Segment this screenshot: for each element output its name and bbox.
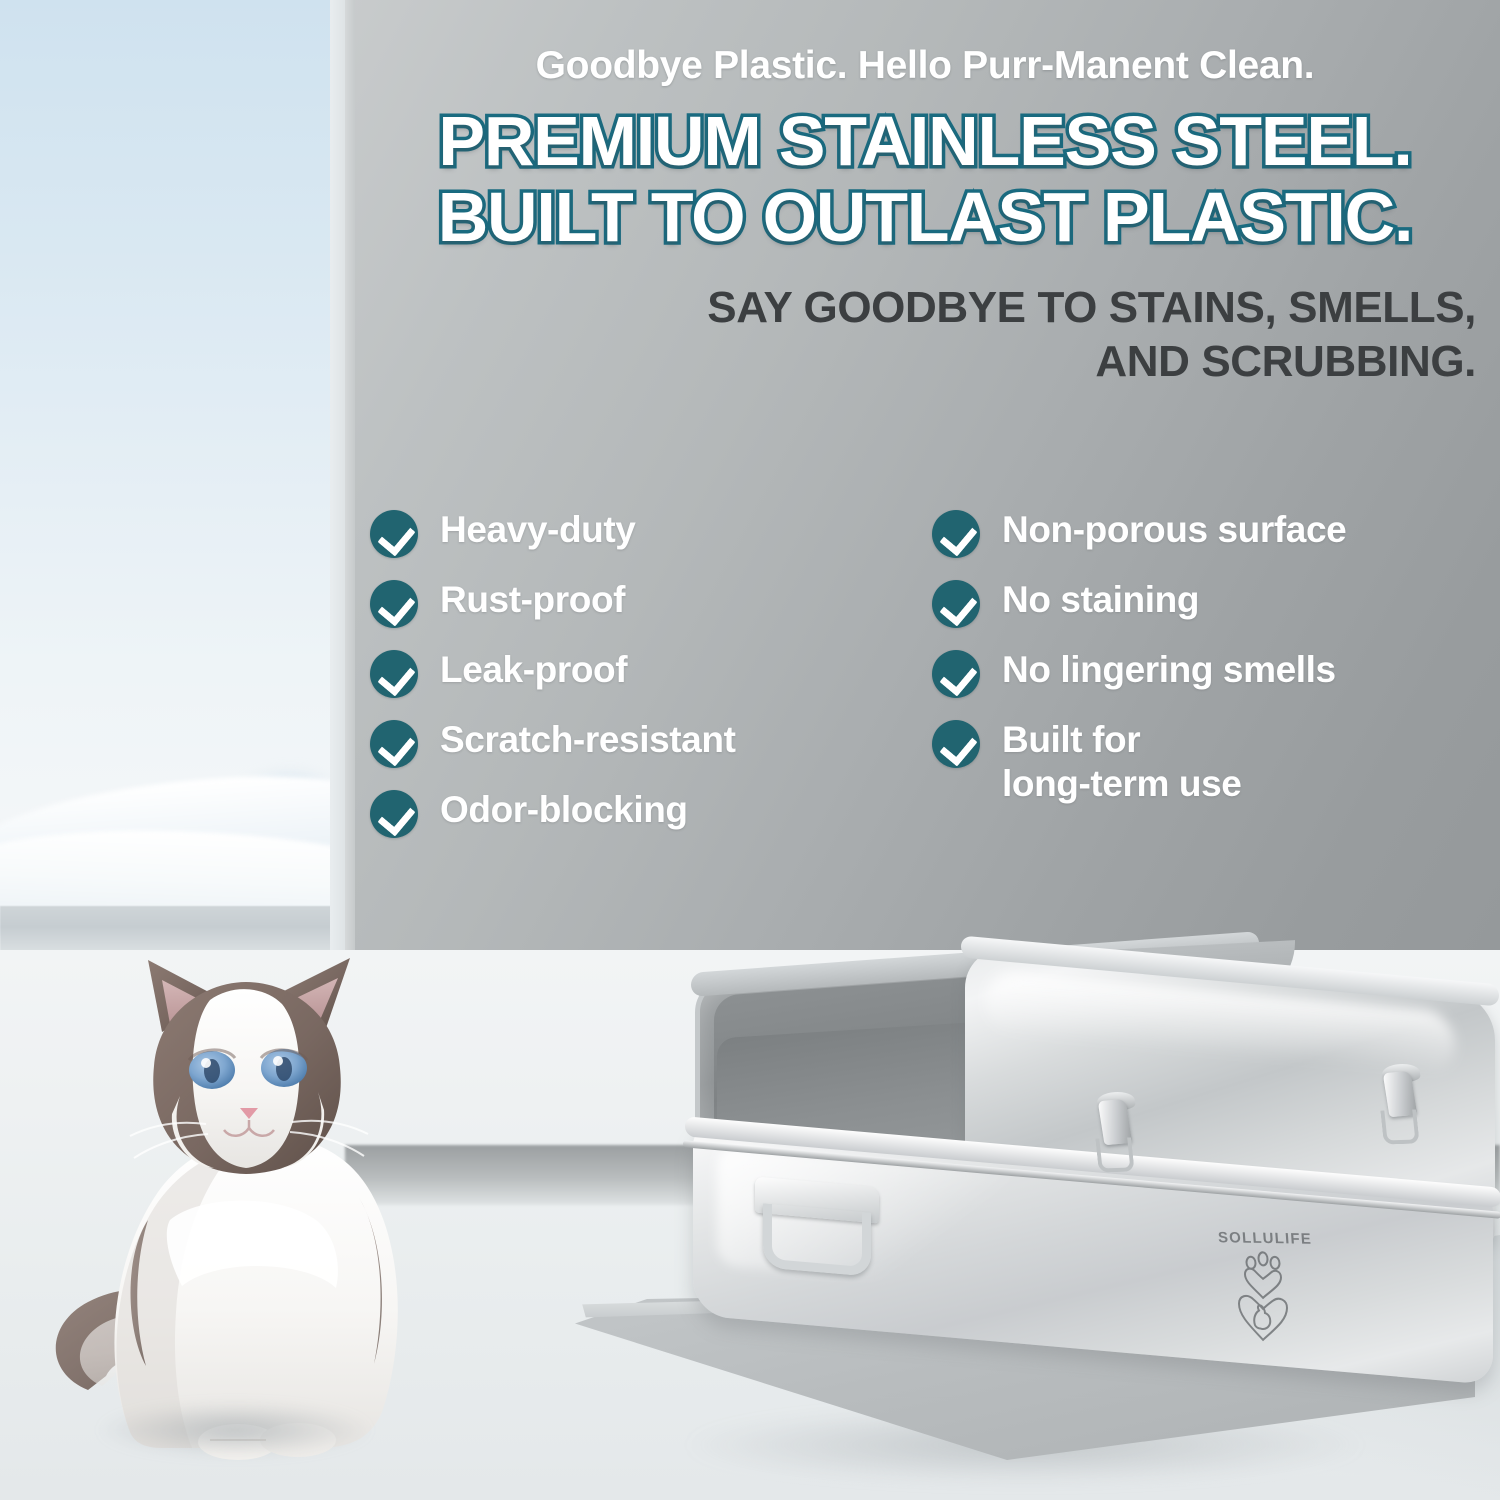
product-marketing-image: Goodbye Plastic. Hello Purr-Manent Clean… (0, 0, 1500, 1500)
brand-mark: SOLLULIFE (1185, 1223, 1345, 1347)
window-view (0, 0, 352, 952)
feature-item: Rust-proof (370, 578, 840, 628)
feature-item: Built for long-term use (932, 718, 1452, 805)
feature-label: Leak-proof (440, 648, 627, 692)
feature-label: No lingering smells (1002, 648, 1336, 692)
feature-column-left: Heavy-duty Rust-proof Leak-proof Scratch… (370, 508, 840, 858)
toggle-latch[interactable] (1095, 1099, 1135, 1178)
feature-column-right: Non-porous surface No staining No linger… (932, 508, 1452, 858)
feature-label: Scratch-resistant (440, 718, 736, 762)
feature-label: No staining (1002, 578, 1199, 622)
check-circle-icon (932, 650, 980, 698)
check-circle-icon (370, 580, 418, 628)
check-circle-icon (932, 580, 980, 628)
stainless-steel-litter-box: SOLLULIFE (665, 930, 1500, 1400)
subheadline-line-1: SAY GOODBYE TO STAINS, SMELLS, (370, 281, 1476, 335)
paw-print-heart-icon (1185, 1241, 1345, 1351)
cat-shadow (40, 1390, 430, 1470)
check-circle-icon (370, 650, 418, 698)
feature-label: Heavy-duty (440, 508, 635, 552)
check-circle-icon (370, 790, 418, 838)
toggle-latch[interactable] (1380, 1071, 1420, 1150)
latch-wire-bail (1095, 1137, 1134, 1172)
headline-line-2: BUILT TO OUTLAST PLASTIC. (370, 180, 1480, 256)
check-circle-icon (370, 510, 418, 558)
ragdoll-cat (30, 920, 440, 1480)
feature-label: Odor-blocking (440, 788, 688, 832)
feature-item: No lingering smells (932, 648, 1452, 698)
feature-label: Built for long-term use (1002, 718, 1241, 805)
feature-lists: Heavy-duty Rust-proof Leak-proof Scratch… (370, 508, 1480, 858)
eyebrow-text: Goodbye Plastic. Hello Purr-Manent Clean… (370, 44, 1480, 88)
feature-label: Rust-proof (440, 578, 625, 622)
check-circle-icon (370, 720, 418, 768)
feature-label: Non-porous surface (1002, 508, 1346, 552)
feature-item: Non-porous surface (932, 508, 1452, 558)
side-drop-handle[interactable] (747, 1176, 887, 1296)
latch-wire-bail (1380, 1109, 1419, 1144)
feature-item: Leak-proof (370, 648, 840, 698)
check-circle-icon (932, 510, 980, 558)
copy-block: Goodbye Plastic. Hello Purr-Manent Clean… (370, 0, 1480, 389)
feature-item: Odor-blocking (370, 788, 840, 838)
handle-d-ring (763, 1203, 871, 1276)
feature-item: Scratch-resistant (370, 718, 840, 768)
headline: PREMIUM STAINLESS STEEL. BUILT TO OUTLAS… (370, 104, 1480, 255)
check-circle-icon (932, 720, 980, 768)
subheadline-line-2: AND SCRUBBING. (370, 335, 1476, 389)
feature-item: Heavy-duty (370, 508, 840, 558)
subheadline: SAY GOODBYE TO STAINS, SMELLS, AND SCRUB… (370, 281, 1480, 388)
feature-item: No staining (932, 578, 1452, 628)
headline-line-1: PREMIUM STAINLESS STEEL. (370, 104, 1480, 180)
